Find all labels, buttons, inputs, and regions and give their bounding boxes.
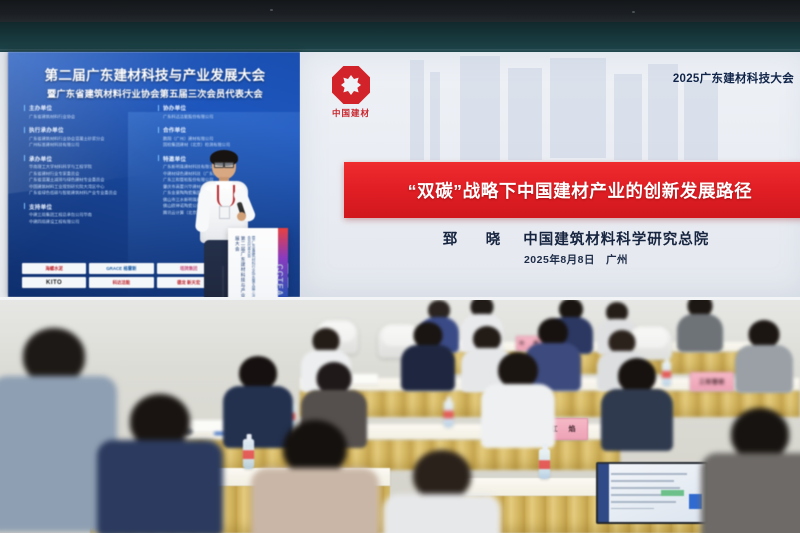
- sponsor-entry: 中建四局建设工程有限公司: [24, 219, 148, 226]
- sponsor-entry: 国检集团建材（北京）检测有限公司: [158, 142, 282, 149]
- badge: [219, 206, 230, 219]
- conference-label: 2025广东建材科技大会: [673, 70, 794, 86]
- attendee: [700, 408, 800, 533]
- slide-speaker-affiliation: 中国建筑材料科学研究总院: [523, 232, 709, 248]
- attendee: [600, 358, 674, 450]
- podium-subtitle-text: 暨广东省建筑材料行业协会第五届三次会员代表大会: [247, 236, 256, 298]
- water-bottle: [539, 449, 550, 479]
- podium-title-text: 第二届广东建材科技与产业发展大会: [236, 236, 246, 306]
- sponsor-heading: 支持单位: [24, 203, 148, 211]
- sponsor-logo: 海螺水泥: [22, 263, 86, 274]
- attendee: [400, 322, 456, 390]
- laptop-screen: [598, 464, 706, 522]
- sponsor-entry: 广东省建筑材料行业协会: [24, 114, 148, 121]
- sponsor-entry: 广州标准建材科技有限公司: [24, 142, 148, 149]
- sponsor-heading: 执行承办单位: [24, 126, 148, 134]
- attendee: [382, 450, 502, 533]
- sponsor-group: 协办单位 广东科达洁能股份有限公司: [158, 104, 282, 120]
- attendee: [96, 394, 224, 533]
- sponsor-group: 合作单位 鹏翔（广州）建材有限公司 国检集团建材（北京）检测有限公司: [158, 126, 282, 149]
- banner-title: 第二届广东建材科技与产业发展大会: [22, 68, 288, 85]
- sponsor-group: 承办单位 华南理工大学材料科学与工程学院 广东省建材行业专家委员会 广东省混凝土…: [24, 155, 148, 197]
- attendee: [734, 320, 794, 392]
- cnbm-logo: 中国建材: [322, 66, 380, 119]
- name-placard: 三和管桩: [690, 372, 734, 391]
- laptop: [596, 462, 708, 524]
- slide-speaker-line: 郅 晓中国建筑材料科学研究总院: [344, 228, 800, 249]
- sponsor-logo-kito: KITO: [22, 277, 86, 288]
- conference-photo: 第二届广东建材科技与产业发展大会 暨广东省建筑材料行业协会第五届三次会员代表大会…: [0, 0, 800, 533]
- slide-speaker-name: 郅 晓: [443, 232, 508, 248]
- slide-date-location: 2025年8月8日 广州: [344, 252, 800, 267]
- projection-screen: 中国建材 2025广东建材科技大会 “双碳”战略下中国建材产业的创新发展路径 郅…: [300, 52, 800, 297]
- audience-area: 叶 斌 周 鸣 三和管桩: [0, 300, 800, 533]
- banner-subtitle: 暨广东省建筑材料行业协会第五届三次会员代表大会: [22, 86, 288, 100]
- cnbm-logo-text: 中国建材: [322, 107, 380, 119]
- ceiling: [0, 0, 800, 22]
- glasses-icon: [214, 162, 234, 166]
- slide-title-band: “双碳”战略下中国建材产业的创新发展路径: [344, 162, 800, 218]
- sponsor-logo: 科达洁能: [89, 277, 153, 288]
- sponsor-logo: GRACE 格雷斯: [89, 263, 153, 274]
- lanyard: [217, 185, 235, 207]
- sponsor-heading: 协办单位: [158, 104, 282, 112]
- sponsor-heading: 主办单位: [24, 104, 148, 112]
- cnbm-octagon-icon: [332, 66, 370, 104]
- slide-title: “双碳”战略下中国建材产业的创新发展路径: [408, 178, 753, 203]
- upper-wall-band: [0, 22, 800, 52]
- sponsor-group: 执行承办单位 广东省建筑材料行业协会混凝土砂浆分会 广州标准建材科技有限公司: [24, 126, 148, 149]
- attendee: [676, 300, 724, 352]
- sponsor-heading: 承办单位: [24, 155, 148, 163]
- sponsor-group: 支持单位 中建三局集团工程总承包公司华南 中建四局建设工程有限公司: [24, 203, 148, 226]
- banner-left-column: 主办单位 广东省建筑材料行业协会 执行承办单位 广东省建筑材料行业协会混凝土砂浆…: [24, 104, 148, 231]
- speaker-hand: [237, 212, 246, 221]
- attendee: [250, 420, 380, 533]
- podium-watermark: CCTEA: [275, 264, 284, 297]
- sponsor-group: 主办单位 广东省建筑材料行业协会: [24, 104, 148, 120]
- sponsor-entry: 广东科达洁能股份有限公司: [158, 114, 282, 121]
- attendee: [480, 352, 556, 448]
- water-bottle: [444, 401, 454, 427]
- sponsor-heading: 合作单位: [158, 126, 282, 134]
- sponsor-entry: 广东省绿色低碳与智能建筑材料产业专业委员会: [24, 190, 148, 197]
